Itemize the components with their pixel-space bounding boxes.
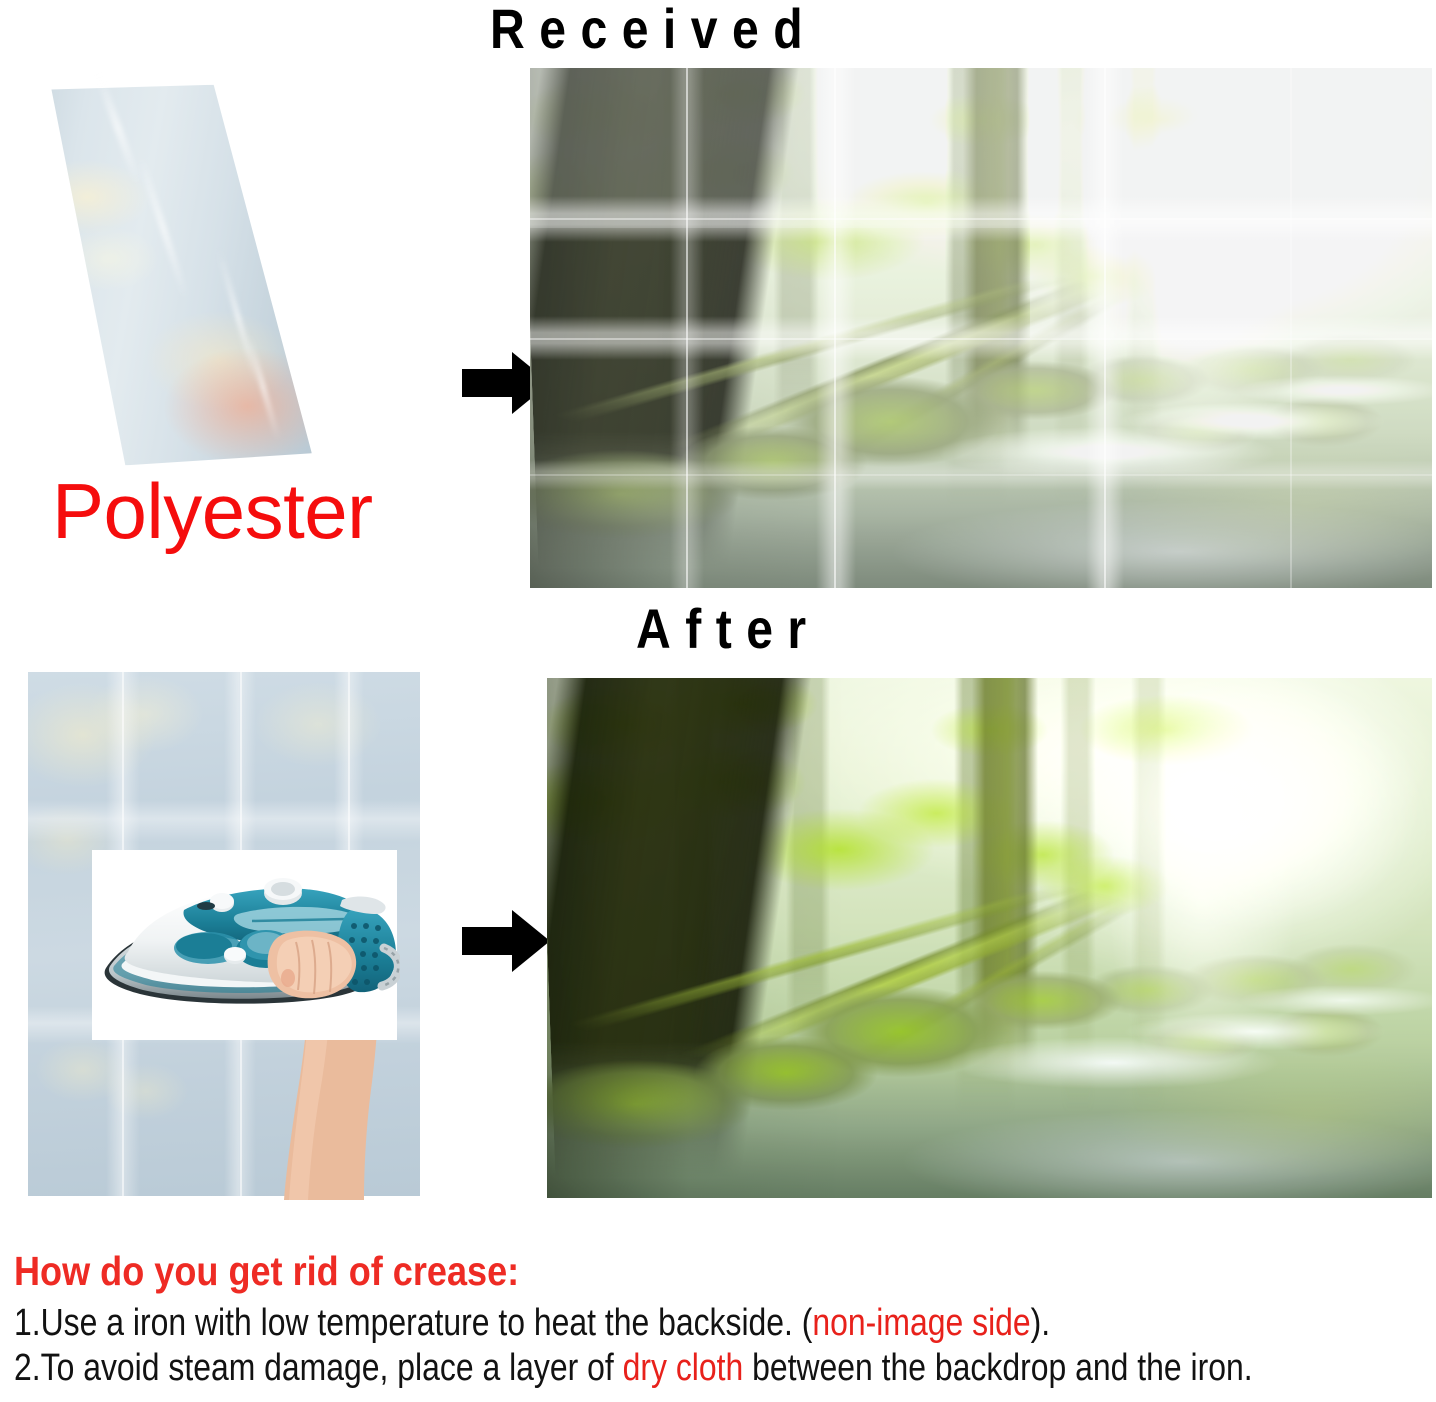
- forest-scene: [530, 68, 1432, 588]
- arrow-head: [512, 910, 550, 972]
- instruction-text-after: ).: [1031, 1302, 1051, 1344]
- forest-vignette: [530, 68, 1432, 588]
- folded-fabric-photo: [18, 84, 418, 484]
- right-arrow-icon: [462, 910, 550, 972]
- iron-photo-card: [92, 850, 397, 1040]
- folded-fabric-sheet: [11, 81, 324, 468]
- arrow-shaft: [462, 369, 516, 397]
- instruction-text-before: To avoid steam damage, place a layer of: [41, 1347, 623, 1389]
- instruction-text-before: Use a iron with low temperature to heat …: [41, 1302, 813, 1344]
- forest-scene: [547, 678, 1432, 1198]
- received-backdrop-photo: [530, 68, 1432, 588]
- infographic-canvas: Received Polyester: [0, 0, 1436, 1402]
- care-instructions: How do you get rid of crease: 1.Use a ir…: [14, 1248, 1426, 1391]
- instruction-text-after: between the backdrop and the iron.: [743, 1347, 1252, 1389]
- instructions-heading: How do you get rid of crease:: [14, 1248, 1257, 1295]
- instruction-highlight: dry cloth: [623, 1347, 744, 1389]
- instruction-number: 1.: [14, 1302, 41, 1344]
- section-title-after: After: [636, 596, 821, 661]
- instruction-line-2: 2.To avoid steam damage, place a layer o…: [14, 1346, 1200, 1391]
- after-backdrop-photo: [547, 678, 1432, 1198]
- instruction-number: 2.: [14, 1347, 41, 1389]
- crease-band-horizontal: [28, 800, 420, 842]
- section-title-received: Received: [490, 0, 817, 61]
- clothing-iron-icon: [88, 856, 400, 1040]
- instruction-line-1: 1.Use a iron with low temperature to hea…: [14, 1301, 1200, 1346]
- material-label-polyester: Polyester: [52, 466, 373, 557]
- instruction-highlight: non-image side: [812, 1302, 1030, 1344]
- forest-vignette: [547, 678, 1432, 1198]
- arrow-shaft: [462, 927, 516, 955]
